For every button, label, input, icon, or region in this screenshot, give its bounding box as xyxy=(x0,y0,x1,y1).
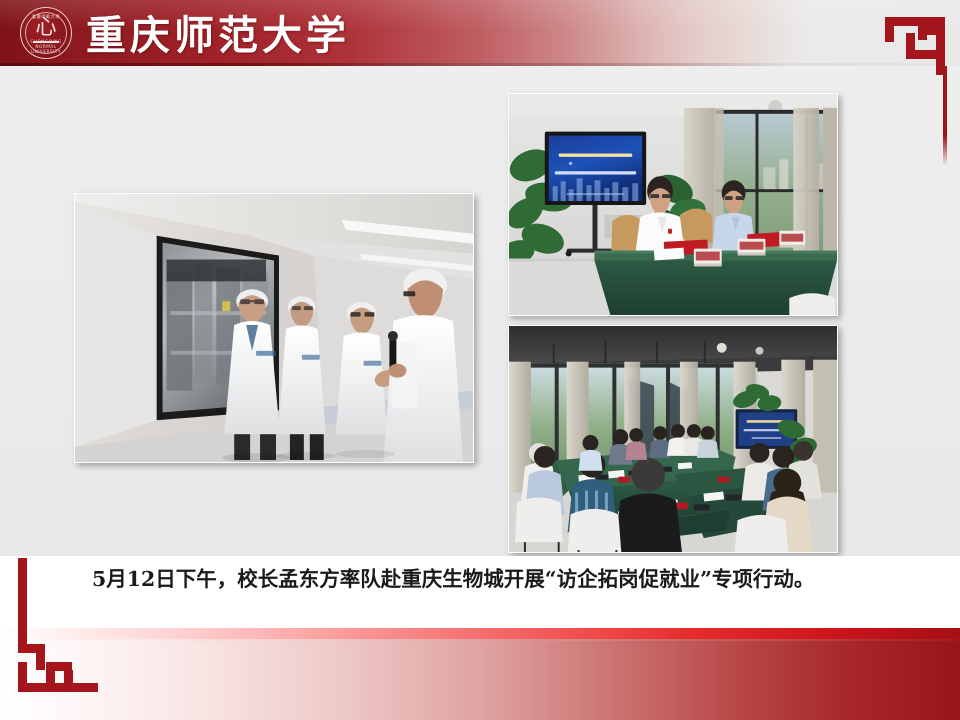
header-underline xyxy=(0,63,960,66)
photo-signing-ceremony xyxy=(508,93,838,316)
footer-gradient-band xyxy=(0,639,960,720)
seal-bottom-text: CHONGQING NORMAL UNIVERSITY xyxy=(21,39,71,54)
footer-hairline xyxy=(0,639,960,641)
photo-meeting-room xyxy=(508,325,838,553)
slide-caption: 5月12日下午，校长孟东方率队赴重庆生物城开展“访企拓岗促就业”专项行动。 xyxy=(92,566,922,593)
university-seal-icon: 重慶師範大學 心 CHONGQING NORMAL UNIVERSITY xyxy=(20,7,72,59)
photo-cleanroom-tour-image xyxy=(75,194,473,462)
caption-red-band xyxy=(0,628,960,639)
university-name-title: 重庆师范大学 xyxy=(86,6,350,58)
photo-meeting-room-image xyxy=(509,326,837,552)
header-right-accent-rule xyxy=(943,66,947,166)
photo-cleanroom-tour xyxy=(74,193,474,463)
slide-canvas: 重慶師範大學 心 CHONGQING NORMAL UNIVERSITY 重庆师… xyxy=(0,0,960,720)
seal-center-glyph: 心 xyxy=(21,17,71,38)
photo-signing-ceremony-image xyxy=(509,94,837,315)
